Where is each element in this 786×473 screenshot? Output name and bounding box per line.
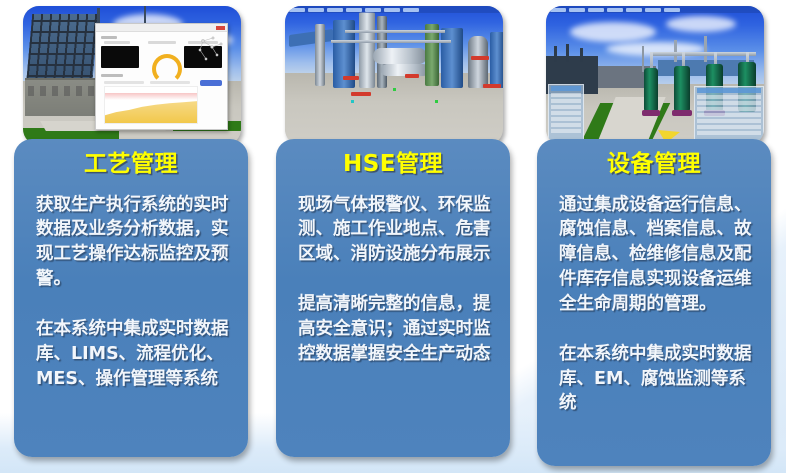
panel-row — [551, 99, 581, 103]
card-title: 工艺管理 — [14, 151, 248, 179]
alarm-tag — [483, 84, 501, 88]
horizontal-vessel — [373, 48, 427, 64]
sensor-marker — [351, 100, 354, 103]
thumbnail-plant-3d-scene-with-equipment-panels[interactable] — [546, 6, 764, 145]
vertical-vessel — [468, 36, 488, 88]
panel-row — [551, 105, 581, 109]
distillation-column — [315, 24, 325, 86]
toolbar-button-icon[interactable] — [588, 8, 604, 12]
alarm-tag — [471, 56, 489, 60]
panel-header — [551, 86, 581, 91]
card-description: 获取生产执行系统的实时数据及业务分析数据，实现工艺操作达标监控及预警。 在本系统… — [14, 193, 248, 392]
card-title: HSE管理 — [276, 151, 510, 179]
stack — [674, 40, 677, 62]
window-titlebar — [96, 24, 227, 32]
toolbar-button-icon[interactable] — [569, 8, 585, 12]
section-label — [101, 74, 123, 77]
card-paragraph: 在本系统中集成实时数据库、LIMS、流程优化、MES、操作管理等系统 — [36, 317, 234, 392]
panel-row — [697, 113, 761, 117]
toolbar-button-icon[interactable] — [607, 8, 623, 12]
info-panel-left[interactable] — [548, 84, 584, 144]
stack — [704, 36, 707, 62]
panel-row — [551, 111, 581, 115]
card-paragraph: 现场气体报警仪、环保监测、施工作业地点、危害区域、消防设施分布展示 — [298, 193, 496, 268]
alarm-tag — [405, 74, 419, 78]
panel-row — [697, 119, 761, 123]
card-paragraph: 通过集成设备运行信息、腐蚀信息、档案信息、故障信息、检维修信息及配件库存信息实现… — [559, 193, 757, 317]
toolbar-button-icon[interactable] — [289, 8, 305, 12]
toolbar-button-icon[interactable] — [664, 8, 680, 12]
kpi-caption — [104, 41, 130, 44]
plant-building — [25, 78, 103, 116]
panel-row — [697, 107, 761, 111]
reactor-base — [672, 110, 692, 116]
toolbar-button-icon[interactable] — [384, 8, 400, 12]
toolbar-button-icon[interactable] — [365, 8, 381, 12]
card-description: 通过集成设备运行信息、腐蚀信息、档案信息、故障信息、检维修信息及配件库存信息实现… — [537, 193, 771, 417]
cloud-shape — [666, 16, 736, 32]
card-paragraph: 在本系统中集成实时数据库、EM、腐蚀监测等系统 — [559, 342, 757, 417]
gauge-widget — [152, 54, 182, 84]
filter-field — [104, 81, 144, 84]
blue-tank — [490, 32, 503, 88]
toolbar-button-icon[interactable] — [308, 8, 324, 12]
toolbar-button-icon[interactable] — [645, 8, 661, 12]
pipeline — [650, 52, 756, 56]
card-paragraph: 提高清晰完整的信息，提高安全意识；通过实时监控数据掌握安全生产动态 — [298, 292, 496, 367]
sensor-marker — [435, 100, 438, 103]
stack — [580, 48, 583, 62]
card-paragraph: 获取生产执行系统的实时数据及业务分析数据，实现工艺操作达标监控及预警。 — [36, 193, 234, 292]
pipeline — [345, 30, 445, 33]
blue-tank — [441, 28, 463, 88]
toolbar-button-icon[interactable] — [346, 8, 362, 12]
card-body-panel: HSE管理 现场气体报警仪、环保监测、施工作业地点、危害区域、消防设施分布展示 … — [276, 139, 510, 457]
panel-row — [551, 117, 581, 121]
toolbar-button-icon[interactable] — [626, 8, 642, 12]
card-body-panel: 工艺管理 获取生产执行系统的实时数据及业务分析数据，实现工艺操作达标监控及预警。… — [14, 139, 248, 457]
thumbnail-refinery-3d-scene-with-gas-alarm-tags[interactable] — [285, 6, 503, 145]
panel-header — [697, 88, 761, 93]
pipeline — [331, 40, 451, 43]
dashboard-window[interactable] — [95, 23, 228, 130]
chart-area-series — [105, 97, 197, 123]
stack — [566, 44, 569, 62]
toolbar-button-icon[interactable] — [403, 8, 419, 12]
card-description: 现场气体报警仪、环保监测、施工作业地点、危害区域、消防设施分布展示 提高清晰完整… — [276, 193, 510, 367]
panel-label — [101, 36, 117, 39]
thumbnail-plant-3d-scene-with-dashboard-window[interactable] — [23, 6, 241, 145]
side-legend — [198, 36, 224, 122]
panel-row — [697, 101, 761, 105]
reactor-base — [642, 110, 660, 116]
steel-lattice-structure — [26, 14, 98, 88]
viewer-toolbar[interactable] — [546, 6, 764, 13]
panel-row — [551, 129, 581, 133]
threshold-band — [105, 93, 197, 100]
column — [359, 12, 375, 88]
panel-row — [551, 93, 581, 97]
toolbar-button-icon[interactable] — [327, 8, 343, 12]
card-row: 工艺管理 获取生产执行系统的实时数据及业务分析数据，实现工艺操作达标监控及预警。… — [0, 0, 786, 473]
cloud-shape — [570, 22, 656, 42]
panel-row — [697, 131, 761, 135]
sensor-marker — [393, 88, 396, 91]
info-panel-right[interactable] — [694, 86, 764, 145]
area-chart — [104, 86, 198, 124]
stack — [554, 46, 557, 62]
filter-field — [150, 81, 190, 84]
kpi-tile — [101, 46, 139, 68]
panel-row — [697, 125, 761, 129]
alarm-tag — [351, 92, 371, 96]
green-reactor — [644, 68, 658, 112]
panel-row — [697, 95, 761, 99]
card-body-panel: 设备管理 通过集成设备运行信息、腐蚀信息、档案信息、故障信息、检维修信息及配件库… — [537, 139, 771, 466]
alarm-tag — [343, 76, 359, 80]
panel-row — [551, 123, 581, 127]
kpi-caption — [148, 41, 176, 44]
card-title: 设备管理 — [537, 151, 771, 179]
green-reactor — [674, 66, 690, 112]
toolbar-button-icon[interactable] — [550, 8, 566, 12]
green-column — [425, 24, 439, 86]
viewer-toolbar[interactable] — [285, 6, 503, 13]
